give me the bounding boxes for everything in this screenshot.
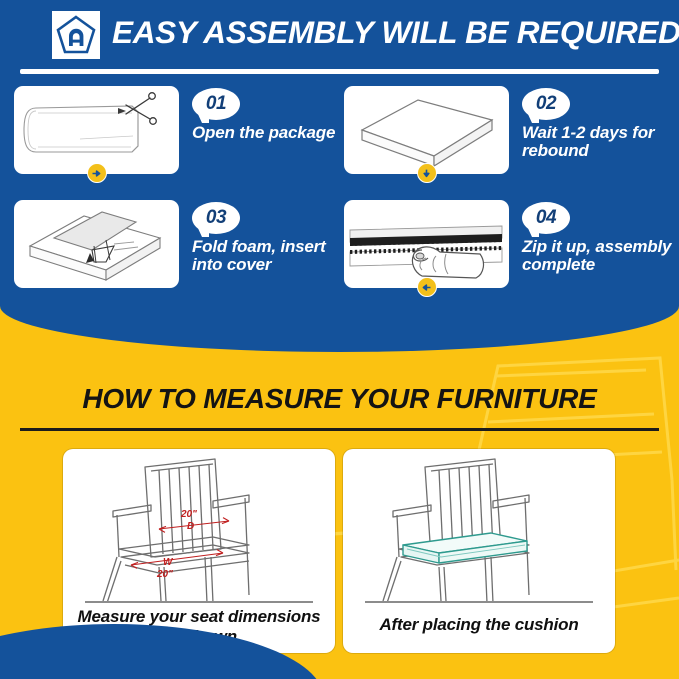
measure-card-dimensions: 20" D W 20" Measure your seat dimensions… xyxy=(63,449,335,653)
step-04-number-bubble: 04 xyxy=(522,202,570,236)
assembly-steps: 01 Open the package xyxy=(0,86,679,310)
step-01-label: Open the package xyxy=(192,124,344,142)
step-01-arrow-right-icon xyxy=(87,163,107,183)
header: EASY ASSEMBLY WILL BE REQUIRED xyxy=(0,0,679,82)
measure-card-divider xyxy=(365,601,593,603)
step-04-card xyxy=(344,200,509,288)
page-title: EASY ASSEMBLY WILL BE REQUIRED xyxy=(112,14,679,51)
step-04-label: Zip it up, assembly complete xyxy=(522,238,674,275)
step-01-number: 01 xyxy=(192,88,240,120)
rolled-package-with-scissors-illustration xyxy=(14,86,179,174)
step-03-number-bubble: 03 xyxy=(192,202,240,236)
svg-text:D: D xyxy=(187,521,194,532)
measure-card-cushion: After placing the cushion xyxy=(343,449,615,653)
step-02-arrow-down-icon xyxy=(417,163,437,183)
step-03-label: Fold foam, insert into cover xyxy=(192,238,344,275)
step-02-number-bubble: 02 xyxy=(522,88,570,122)
svg-text:20": 20" xyxy=(156,569,173,580)
step-01: 01 Open the package xyxy=(14,86,344,191)
step-03-number: 03 xyxy=(192,202,240,234)
step-04-arrow-left-icon xyxy=(417,277,437,297)
step-02-text: 02 Wait 1-2 days for rebound xyxy=(522,88,674,161)
step-04-text: 04 Zip it up, assembly complete xyxy=(522,202,674,275)
step-01-number-bubble: 01 xyxy=(192,88,240,122)
svg-text:20": 20" xyxy=(180,509,197,520)
step-03: 03 Fold foam, insert into cover xyxy=(14,200,344,305)
measure-card-caption: After placing the cushion xyxy=(351,615,607,635)
step-02-label: Wait 1-2 days for rebound xyxy=(522,124,674,161)
header-divider xyxy=(20,69,659,74)
measure-section-title: HOW TO MEASURE YOUR FURNITURE xyxy=(0,383,679,415)
chair-with-dimension-annotations-illustration: 20" D W 20" xyxy=(63,453,335,603)
step-02: 02 Wait 1-2 days for rebound xyxy=(344,86,674,191)
folding-foam-into-cover-illustration xyxy=(14,200,179,288)
house-logo-icon xyxy=(52,11,100,59)
chair-with-seat-cushion-illustration xyxy=(343,453,615,603)
step-03-text: 03 Fold foam, insert into cover xyxy=(192,202,344,275)
step-04-number: 04 xyxy=(522,202,570,234)
step-04: 04 Zip it up, assembly complete xyxy=(344,200,674,305)
measure-divider xyxy=(20,428,659,431)
step-03-card xyxy=(14,200,179,288)
step-01-card xyxy=(14,86,179,174)
step-02-number: 02 xyxy=(522,88,570,120)
svg-text:W: W xyxy=(163,557,174,568)
step-01-text: 01 Open the package xyxy=(192,88,344,142)
measure-card-divider xyxy=(85,601,313,603)
infographic-poster: EASY ASSEMBLY WILL BE REQUIRED xyxy=(0,0,679,679)
hand-zipping-cushion-cover-illustration xyxy=(344,200,509,288)
step-02-card xyxy=(344,86,509,174)
flat-foam-slab-illustration xyxy=(344,86,509,174)
